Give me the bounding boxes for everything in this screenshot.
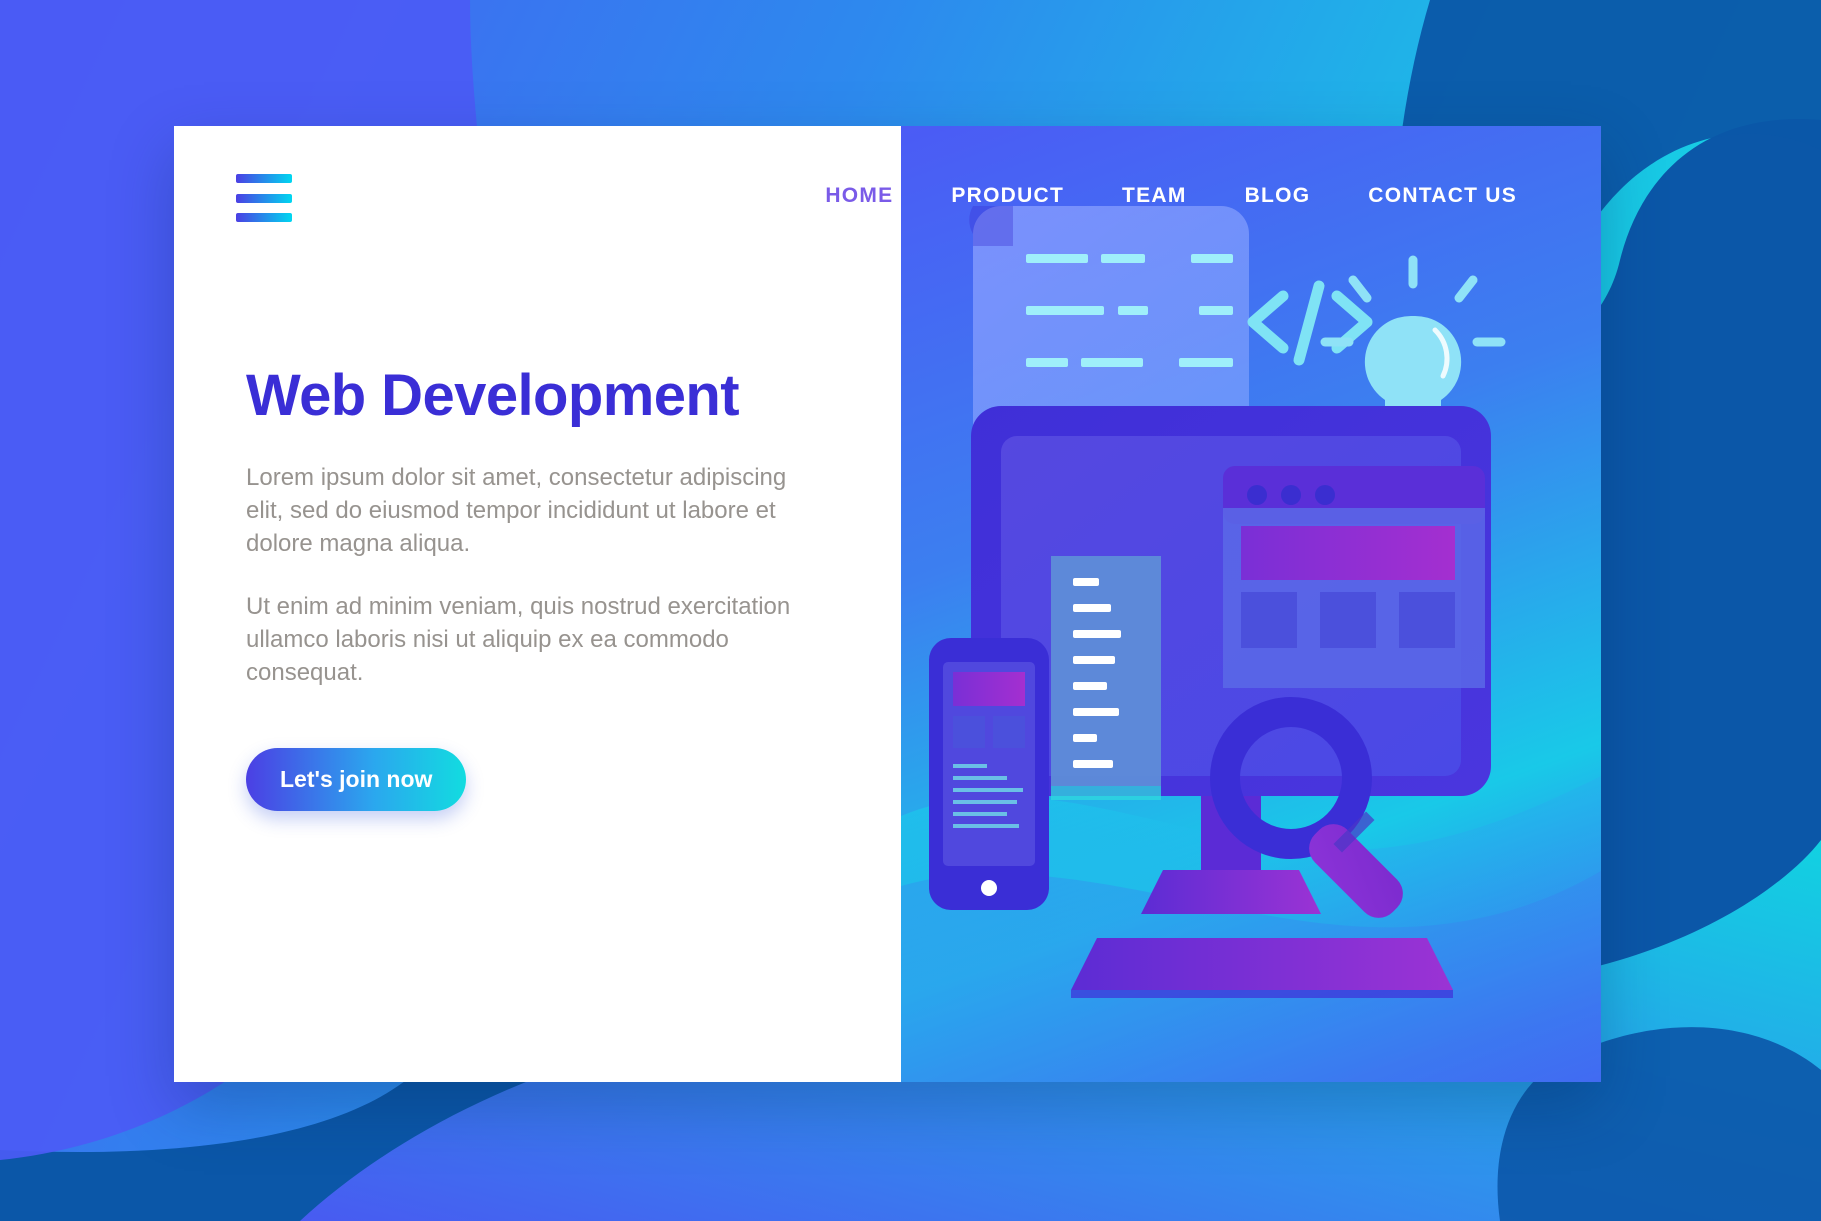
phone-box-2 bbox=[993, 716, 1025, 748]
phone-home-button bbox=[981, 880, 997, 896]
page-title: Web Development bbox=[246, 366, 846, 427]
nav-item-blog[interactable]: BLOG bbox=[1239, 176, 1317, 216]
web-development-illustration bbox=[901, 126, 1601, 1082]
nav-item-contact-us[interactable]: CONTACT US bbox=[1362, 176, 1523, 216]
keyboard bbox=[1071, 938, 1453, 990]
phone-banner bbox=[953, 672, 1025, 706]
hamburger-bar-2 bbox=[236, 194, 292, 203]
browser-box-1 bbox=[1241, 592, 1297, 648]
nav-item-team[interactable]: TEAM bbox=[1116, 176, 1193, 216]
phone-box-1 bbox=[953, 716, 985, 748]
join-now-button[interactable]: Let's join now bbox=[246, 748, 466, 811]
browser-box-3 bbox=[1399, 592, 1455, 648]
hero-paragraph-1: Lorem ipsum dolor sit amet, consectetur … bbox=[246, 461, 806, 560]
hero-paragraph-2: Ut enim ad minim veniam, quis nostrud ex… bbox=[246, 590, 806, 689]
mobile-phone bbox=[929, 638, 1049, 910]
hamburger-menu-icon[interactable] bbox=[236, 174, 298, 222]
document-list bbox=[1051, 556, 1161, 800]
hero-card: Web Development Lorem ipsum dolor sit am… bbox=[174, 126, 1601, 1082]
code-symbol-icon bbox=[1253, 286, 1367, 360]
hamburger-bar-1 bbox=[236, 174, 292, 183]
browser-dot-2 bbox=[1281, 485, 1301, 505]
browser-dot-1 bbox=[1247, 485, 1267, 505]
browser-window bbox=[1223, 466, 1485, 688]
browser-dot-3 bbox=[1315, 485, 1335, 505]
page-root: Web Development Lorem ipsum dolor sit am… bbox=[0, 0, 1821, 1221]
nav-item-home[interactable]: HOME bbox=[819, 176, 899, 216]
browser-hero-banner bbox=[1241, 526, 1455, 580]
nav-item-product[interactable]: PRODUCT bbox=[945, 176, 1070, 216]
hero-left-panel: Web Development Lorem ipsum dolor sit am… bbox=[174, 126, 901, 1082]
hero-content: Web Development Lorem ipsum dolor sit am… bbox=[246, 366, 846, 811]
hero-illustration-panel bbox=[901, 126, 1601, 1082]
browser-box-2 bbox=[1320, 592, 1376, 648]
hamburger-bar-3 bbox=[236, 213, 292, 222]
